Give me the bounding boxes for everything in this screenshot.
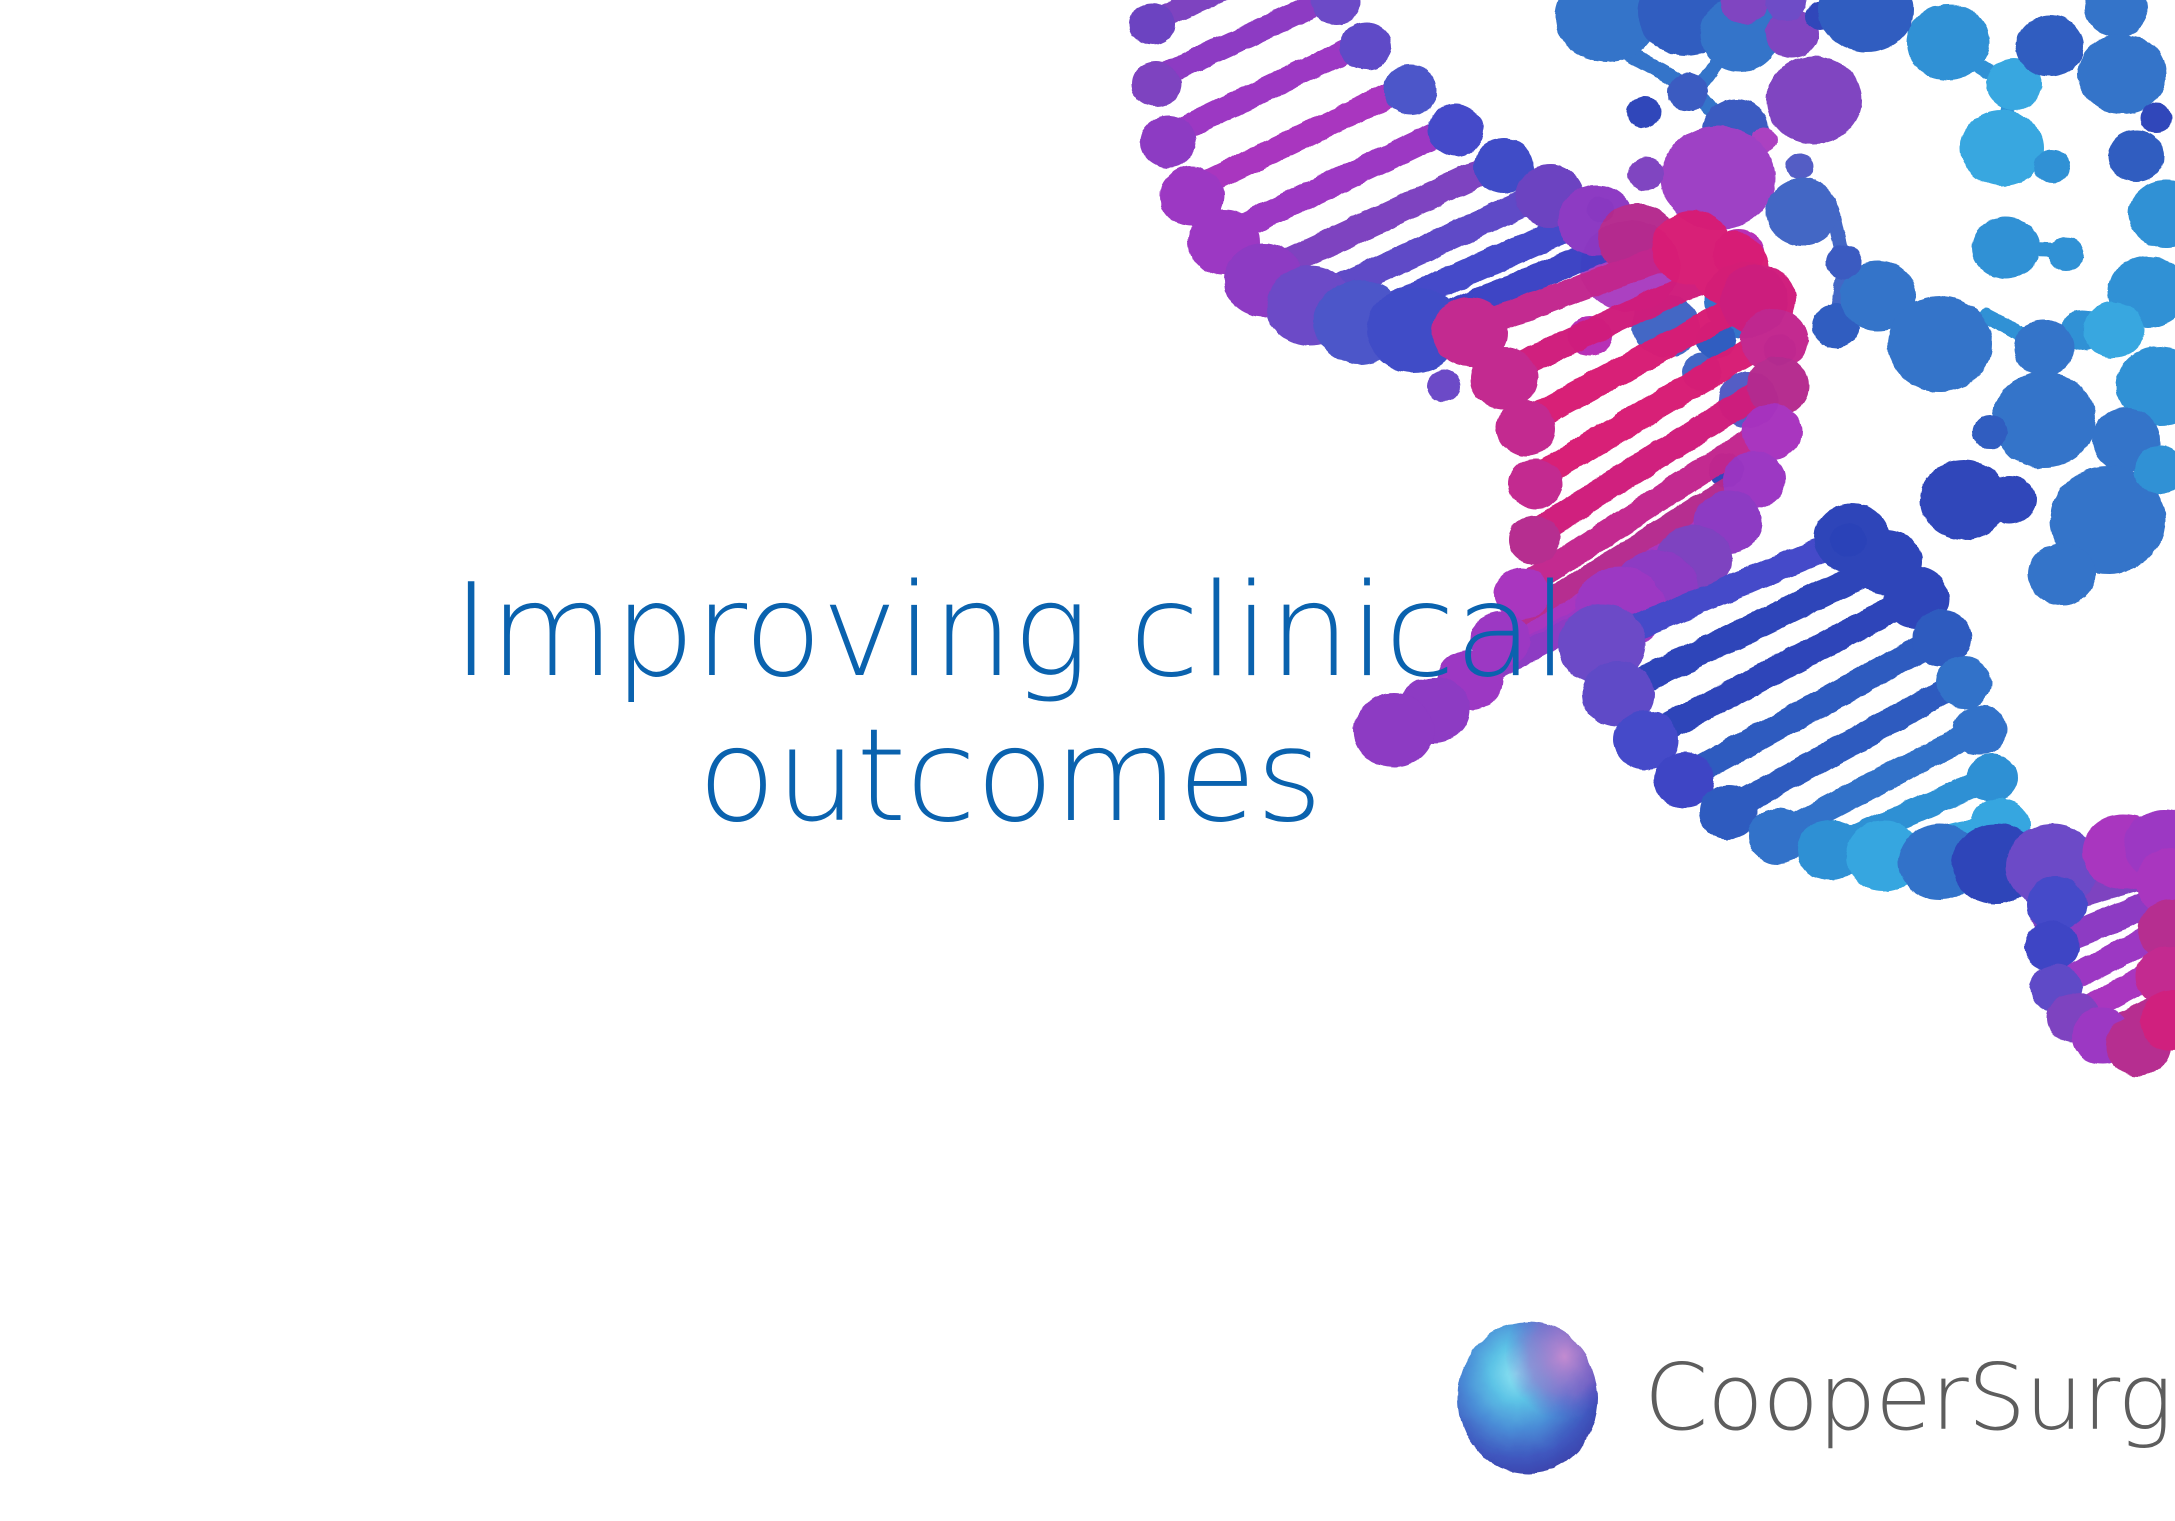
title-line-2: outcomes — [420, 705, 1600, 850]
coopersurgical-logo: CooperSurgical® — [1452, 1318, 2175, 1478]
slide-canvas: Improving clinical outcomes CooperSurgic… — [0, 0, 2175, 1521]
slide-title: Improving clinical outcomes — [420, 560, 1600, 849]
title-line-1: Improving clinical — [420, 560, 1600, 705]
molecule-cluster — [1555, 0, 2175, 605]
coopersurgical-mark-icon — [1452, 1318, 1604, 1478]
coopersurgical-wordmark: CooperSurgical® — [1644, 1352, 2175, 1444]
wordmark-text: CooperSurgical — [1644, 1344, 2175, 1451]
dna-helix — [1129, 0, 2175, 1076]
